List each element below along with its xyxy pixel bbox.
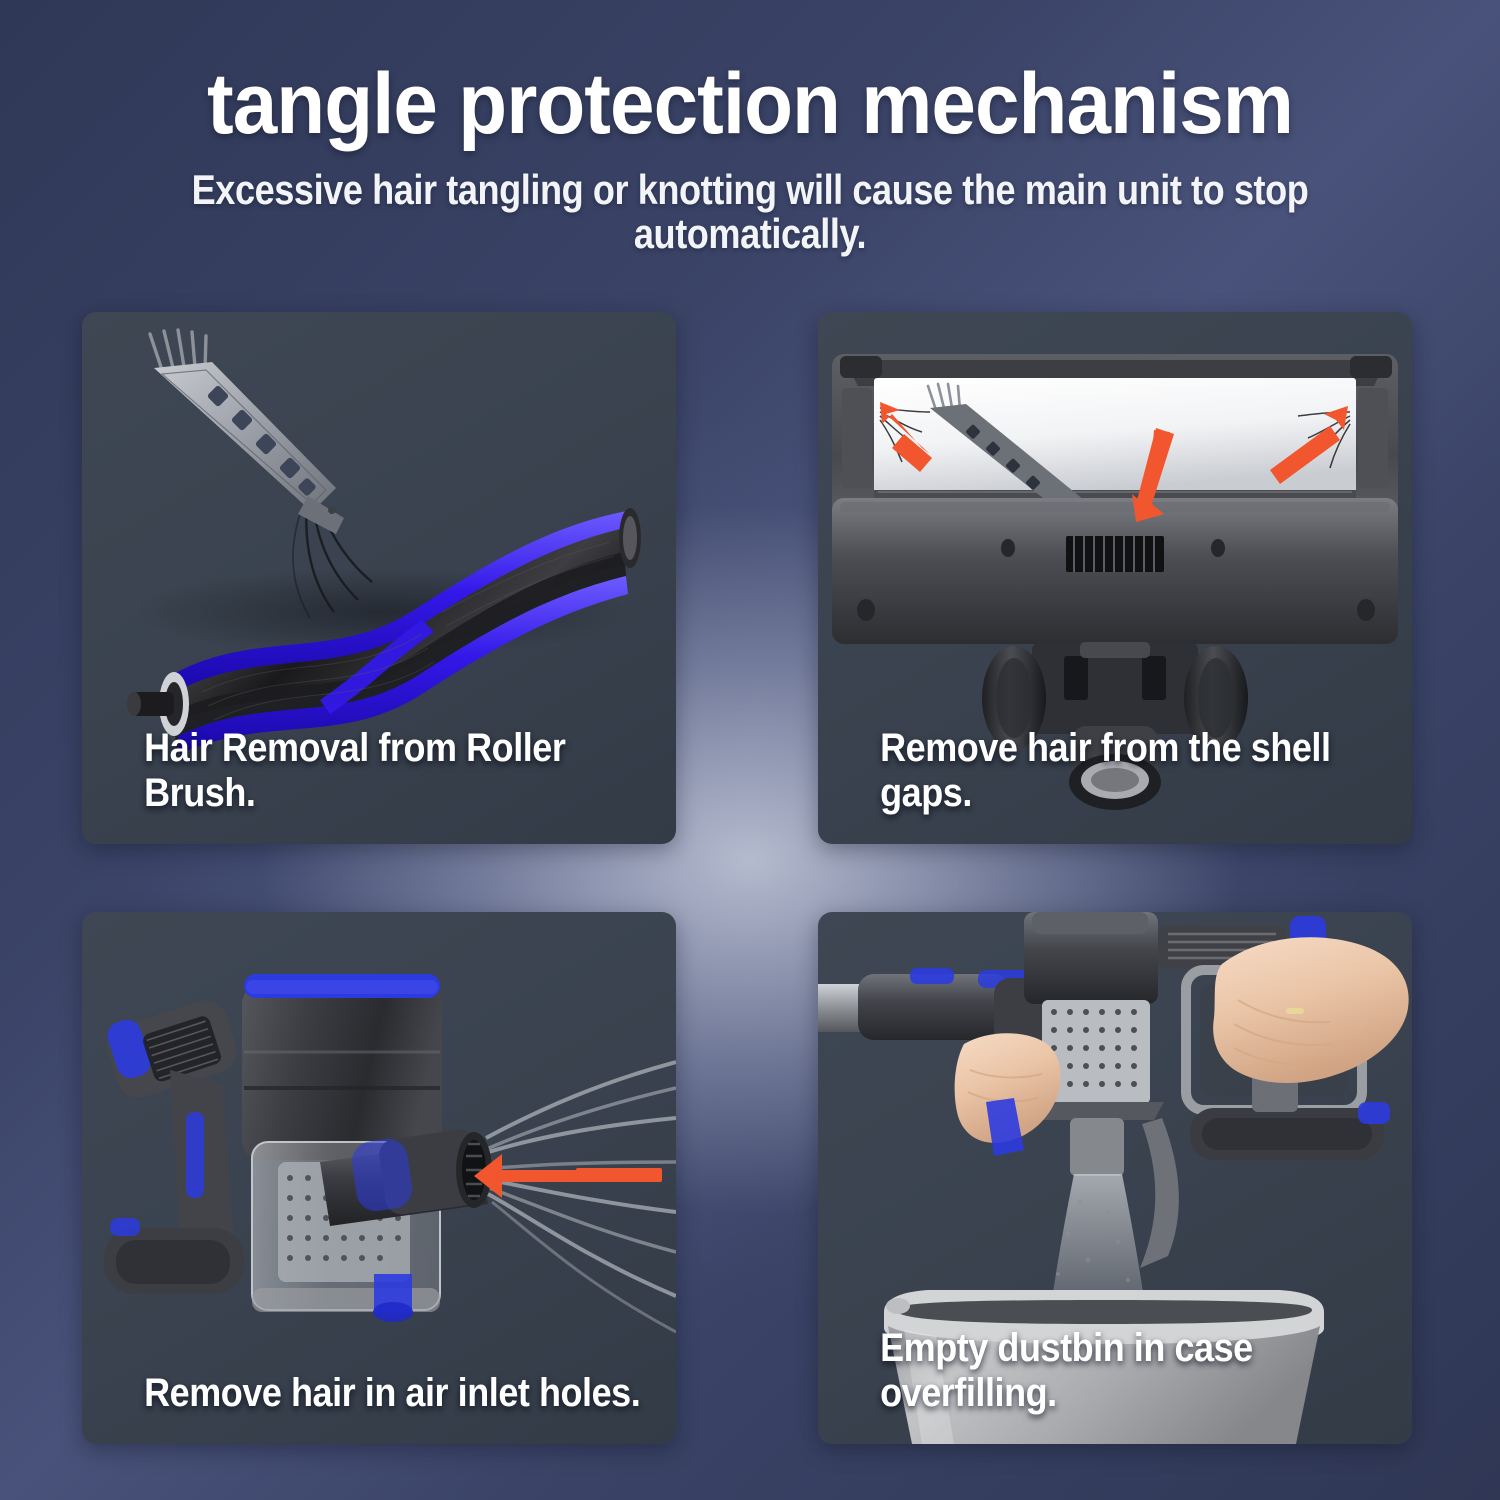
- left-hand: [955, 1033, 1061, 1156]
- dustbin: [884, 1290, 1324, 1444]
- header: tangle protection mechanism Excessive ha…: [0, 0, 1500, 256]
- bin-outlet: [1070, 1118, 1124, 1176]
- ring: [1286, 1008, 1304, 1014]
- motor-barrel: [242, 984, 442, 1160]
- panel-air-inlet[interactable]: Remove hair in air inlet holes.: [82, 912, 676, 1444]
- page-subtitle: Excessive hair tangling or knotting will…: [105, 146, 1395, 256]
- bin-door-flap: [1140, 1118, 1179, 1268]
- bin-handle-left: [886, 1298, 910, 1314]
- handheld-vacuum: [102, 974, 492, 1322]
- right-hand: [1213, 937, 1409, 1083]
- panel-empty-dustbin[interactable]: Empty dustbin in case overfilling.: [818, 912, 1412, 1444]
- latch-right: [1350, 356, 1392, 378]
- latch-left: [840, 356, 882, 378]
- trigger: [186, 1112, 204, 1198]
- empty-dustbin-illustration: [818, 912, 1412, 1444]
- cavity-lip: [874, 490, 1356, 499]
- panel-grid: Hair Removal from Roller Brush.: [82, 312, 1420, 1444]
- brush-end-cap-right: [619, 508, 641, 568]
- bin-interior: [896, 1300, 1312, 1324]
- airflow-streamlines: [476, 1062, 676, 1332]
- roller-brush-illustration: [82, 312, 676, 844]
- panel-shell-gaps[interactable]: Remove hair from the shell gaps.: [818, 312, 1412, 844]
- cleaning-comb-tool: [150, 330, 344, 534]
- page-title: tangle protection mechanism: [53, 0, 1448, 146]
- shell-gaps-illustration: [818, 312, 1412, 844]
- left-gap-pocket: [842, 388, 872, 488]
- right-gap-pocket: [1358, 388, 1388, 488]
- floor-head: [832, 354, 1398, 644]
- panel-roller-brush[interactable]: Hair Removal from Roller Brush.: [82, 312, 676, 844]
- swivel-joint-assembly: [982, 642, 1248, 810]
- brush-end-cap-left: [127, 672, 189, 736]
- infographic-root: tangle protection mechanism Excessive ha…: [0, 0, 1500, 1500]
- air-inlet-illustration: [82, 912, 676, 1444]
